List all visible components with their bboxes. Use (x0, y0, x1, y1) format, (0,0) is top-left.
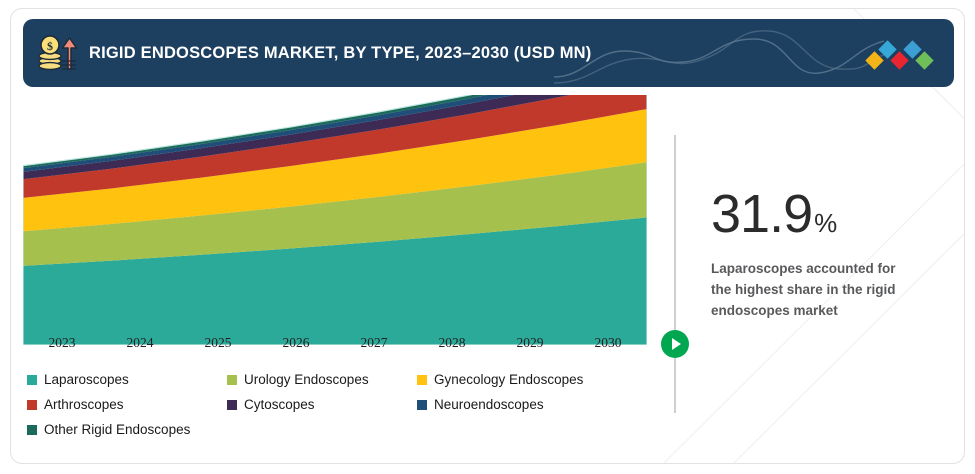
stat-description: Laparoscopes accounted for the highest s… (711, 259, 916, 322)
legend-swatch (227, 375, 237, 385)
legend-label: Gynecology Endoscopes (434, 372, 583, 387)
legend-label: Arthroscopes (44, 397, 124, 412)
vertical-divider (674, 135, 676, 413)
legend-item[interactable]: Cytoscopes (227, 397, 417, 412)
stat-unit: % (814, 210, 836, 236)
money-growth-icon: $ (35, 31, 79, 75)
x-axis-labels: 2023 2024 2025 2026 2027 2028 2029 2030 (23, 335, 647, 365)
stacked-area-chart (23, 95, 647, 345)
chart-legend: Laparoscopes Urology Endoscopes Gynecolo… (27, 372, 647, 447)
infographic-body: 2023 2024 2025 2026 2027 2028 2029 2030 … (11, 87, 965, 464)
diamond-logo (864, 37, 940, 71)
x-tick: 2026 (257, 335, 335, 365)
legend-item[interactable]: Urology Endoscopes (227, 372, 417, 387)
legend-item[interactable]: Arthroscopes (27, 397, 227, 412)
chart-region: 2023 2024 2025 2026 2027 2028 2029 2030 … (11, 87, 659, 464)
svg-text:$: $ (47, 39, 53, 53)
legend-item[interactable]: Gynecology Endoscopes (417, 372, 617, 387)
stat-value: 31.9 (711, 187, 812, 241)
x-tick: 2029 (491, 335, 569, 365)
callout-stat: 31.9 % Laparoscopes accounted for the hi… (711, 187, 951, 322)
legend-item[interactable]: Neuroendoscopes (417, 397, 617, 412)
legend-label: Neuroendoscopes (434, 397, 544, 412)
legend-label: Laparoscopes (44, 372, 129, 387)
legend-swatch (27, 425, 37, 435)
infographic-root: $ RIGID ENDOSCOPES MARKET, BY TYPE, 2023… (0, 0, 975, 474)
play-circle-icon[interactable] (661, 330, 689, 358)
legend-item[interactable]: Other Rigid Endoscopes (27, 422, 227, 437)
x-tick: 2028 (413, 335, 491, 365)
x-tick: 2024 (101, 335, 179, 365)
legend-item[interactable]: Laparoscopes (27, 372, 227, 387)
play-triangle (672, 338, 681, 350)
stat-value-row: 31.9 % (711, 187, 951, 241)
header-bar: $ RIGID ENDOSCOPES MARKET, BY TYPE, 2023… (23, 19, 954, 87)
legend-swatch (27, 400, 37, 410)
legend-swatch (417, 400, 427, 410)
page-title: RIGID ENDOSCOPES MARKET, BY TYPE, 2023–2… (89, 19, 591, 87)
legend-label: Cytoscopes (244, 397, 315, 412)
x-tick: 2030 (569, 335, 647, 365)
legend-label: Urology Endoscopes (244, 372, 369, 387)
x-tick: 2027 (335, 335, 413, 365)
legend-swatch (27, 375, 37, 385)
legend-label: Other Rigid Endoscopes (44, 422, 190, 437)
x-tick: 2023 (23, 335, 101, 365)
wave-decoration (554, 19, 884, 87)
legend-swatch (417, 375, 427, 385)
infographic-card: $ RIGID ENDOSCOPES MARKET, BY TYPE, 2023… (10, 8, 965, 464)
legend-swatch (227, 400, 237, 410)
x-tick: 2025 (179, 335, 257, 365)
